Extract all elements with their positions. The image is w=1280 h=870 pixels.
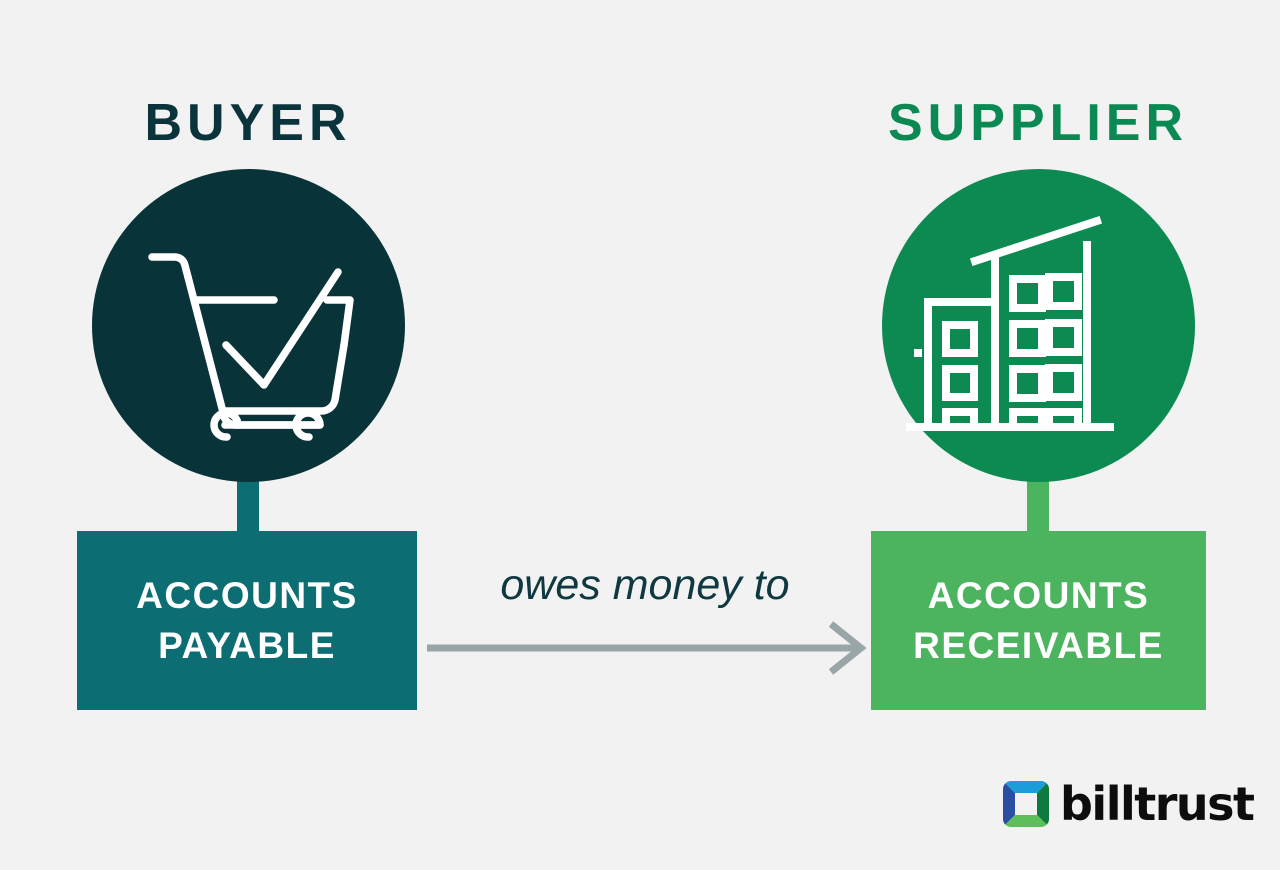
supplier-heading: SUPPLIER [790, 97, 1280, 149]
buyer-icon-circle [92, 169, 405, 482]
billtrust-wordmark: billtrust [1060, 781, 1254, 827]
billtrust-mark-icon [1003, 781, 1049, 827]
ar-label-line-2: RECEIVABLE [913, 621, 1164, 671]
ap-label-line-1: ACCOUNTS [136, 571, 358, 621]
relation-caption: owes money to [427, 564, 863, 607]
supplier-icon-circle [882, 169, 1195, 482]
ar-label-line-1: ACCOUNTS [913, 571, 1164, 621]
ap-label-line-2: PAYABLE [136, 621, 358, 671]
billtrust-logo: billtrust [1003, 778, 1235, 830]
accounts-payable-box: ACCOUNTS PAYABLE [77, 531, 417, 710]
owes-money-to-arrow [427, 618, 867, 678]
office-buildings-icon [882, 169, 1195, 482]
shopping-cart-check-icon [92, 169, 405, 482]
accounts-receivable-box: ACCOUNTS RECEIVABLE [871, 531, 1206, 710]
buyer-heading: BUYER [0, 97, 496, 149]
diagram-canvas: BUYER [0, 0, 1280, 870]
